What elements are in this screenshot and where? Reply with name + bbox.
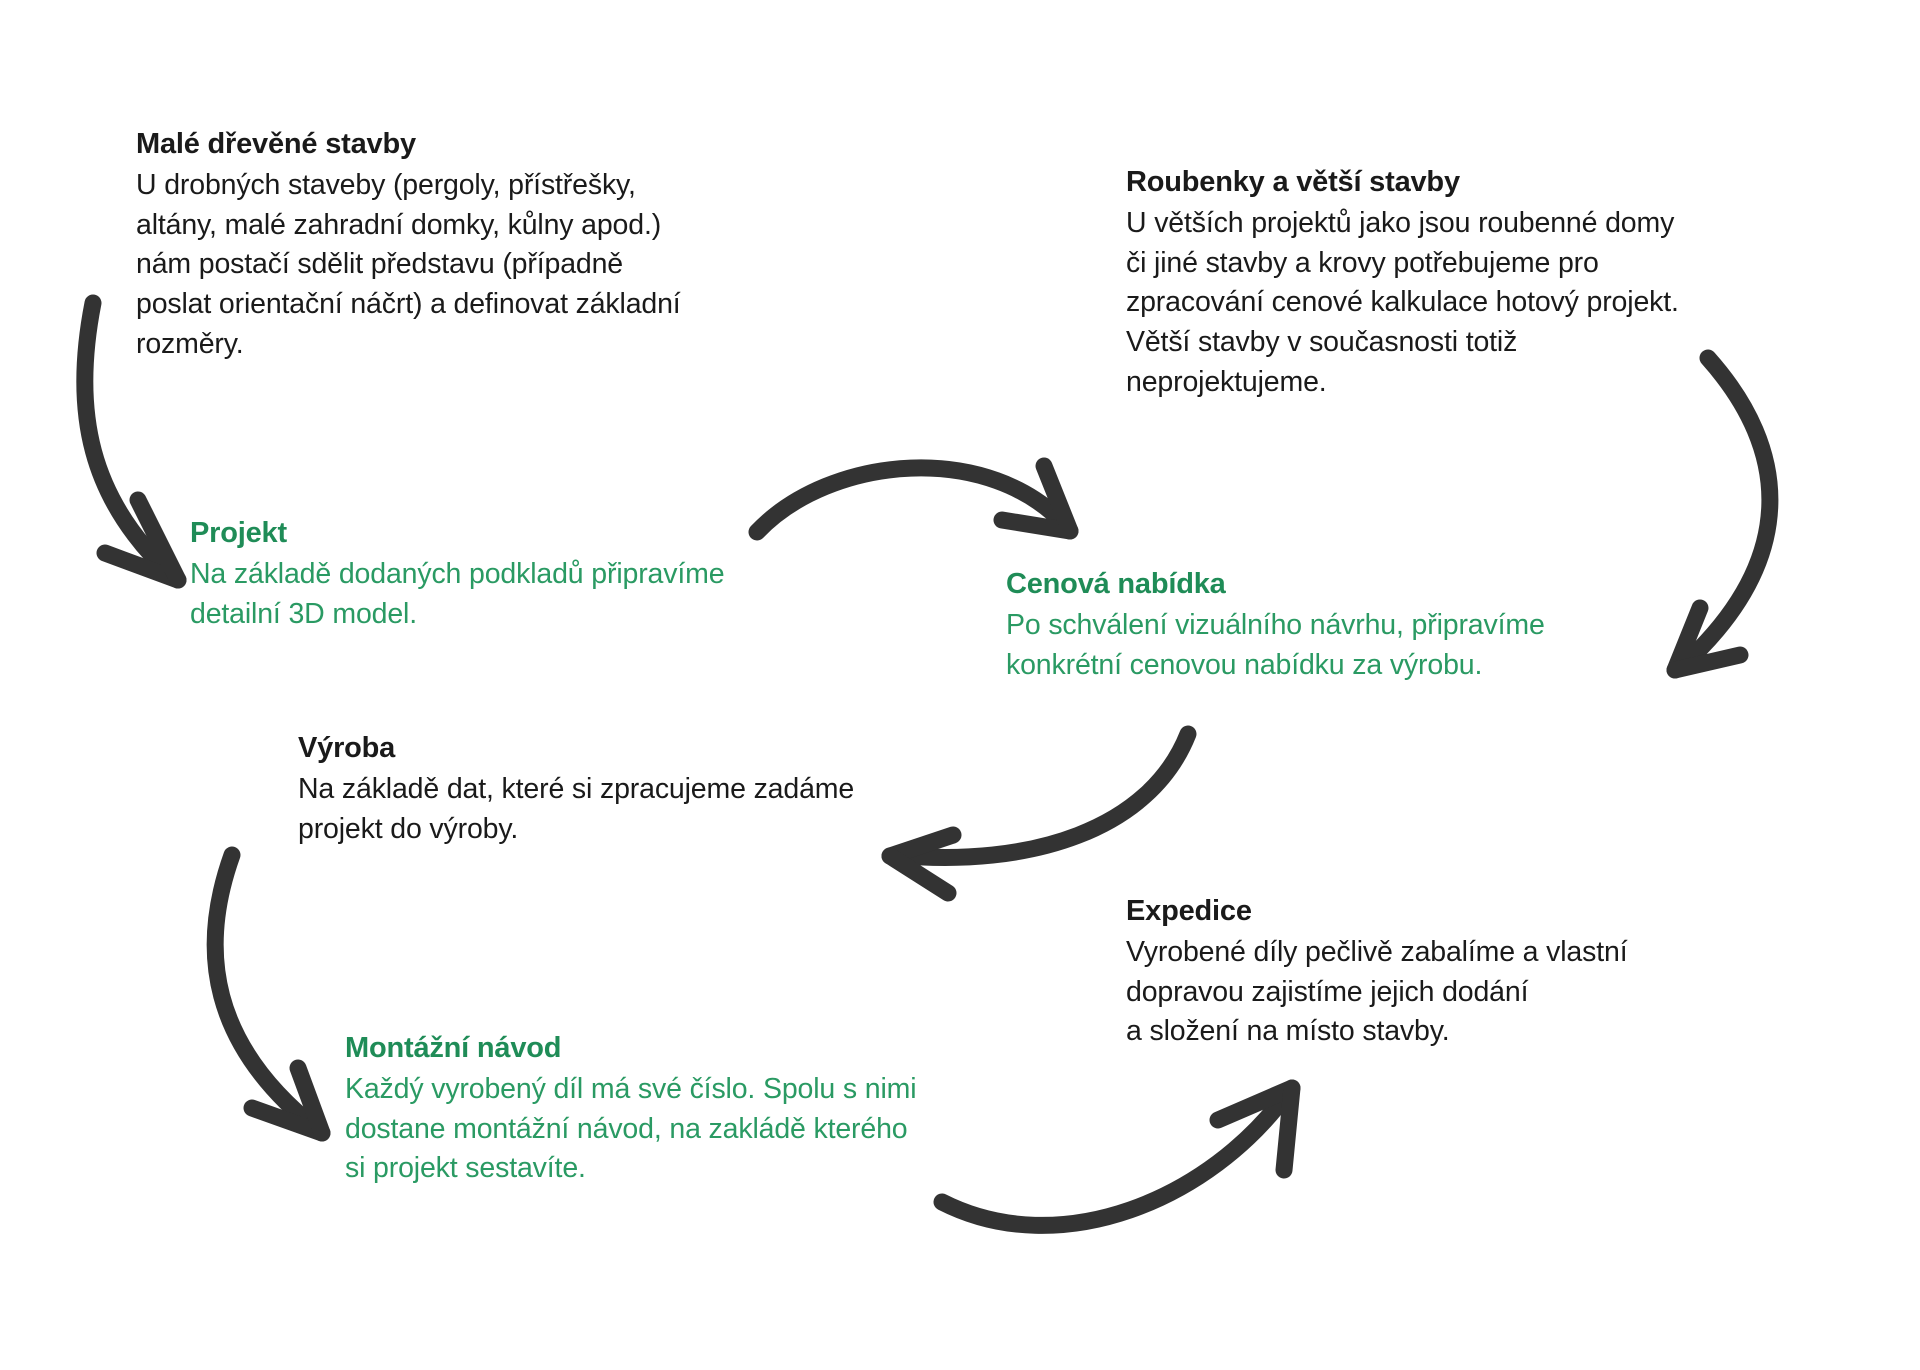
step-body: Na základě dodaných podkladů připravíme … bbox=[190, 555, 890, 635]
arrow-vyroba-to-montazni-navod bbox=[215, 855, 322, 1133]
step-montazni-navod: Montážní návod Každý vyrobený díl má své… bbox=[345, 1030, 1065, 1189]
step-title: Výroba bbox=[298, 730, 1018, 768]
step-projekt: Projekt Na základě dodaných podkladů při… bbox=[190, 515, 890, 634]
step-body: U větších projektů jako jsou roubenné do… bbox=[1126, 204, 1846, 403]
step-title: Cenová nabídka bbox=[1006, 566, 1726, 604]
step-body: Po schválení vizuálního návrhu, připraví… bbox=[1006, 606, 1726, 686]
step-body: Vyrobené díly pečlivě zabalíme a vlastní… bbox=[1126, 933, 1846, 1053]
step-roubenky-a-vetsi-stavby: Roubenky a větší stavby U větších projek… bbox=[1126, 164, 1846, 403]
process-flow-diagram: Malé dřevěné stavby U drobných staveby (… bbox=[0, 0, 1920, 1370]
step-title: Malé dřevěné stavby bbox=[136, 126, 836, 164]
step-title: Roubenky a větší stavby bbox=[1126, 164, 1846, 202]
step-body: Každý vyrobený díl má své číslo. Spolu s… bbox=[345, 1070, 1065, 1190]
step-title: Montážní návod bbox=[345, 1030, 1065, 1068]
step-body: Na základě dat, které si zpracujeme zadá… bbox=[298, 770, 1018, 850]
step-body: U drobných staveby (pergoly, přístřešky,… bbox=[136, 166, 836, 365]
step-cenova-nabidka: Cenová nabídka Po schválení vizuálního n… bbox=[1006, 566, 1726, 685]
step-male-drevene-stavby: Malé dřevěné stavby U drobných staveby (… bbox=[136, 126, 836, 365]
step-vyroba: Výroba Na základě dat, které si zpracuje… bbox=[298, 730, 1018, 849]
step-title: Projekt bbox=[190, 515, 890, 553]
step-title: Expedice bbox=[1126, 893, 1846, 931]
step-expedice: Expedice Vyrobené díly pečlivě zabalíme … bbox=[1126, 893, 1846, 1052]
